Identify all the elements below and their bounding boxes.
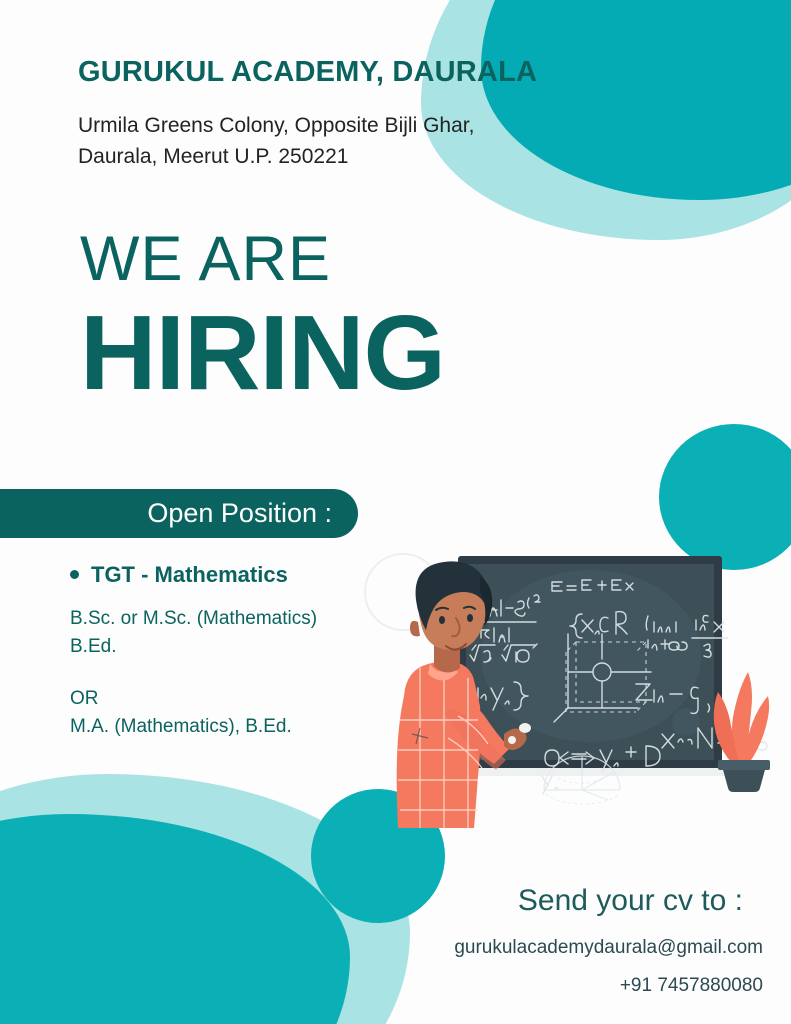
contact-email[interactable]: gurukulacademydaurala@gmail.com xyxy=(454,937,763,959)
position-title: TGT - Mathematics xyxy=(91,562,288,588)
position-row: TGT - Mathematics xyxy=(70,562,400,588)
open-position-label: Open Position : xyxy=(147,498,332,529)
qualification-primary: B.Sc. or M.Sc. (Mathematics) B.Ed. xyxy=(70,605,400,661)
open-position-banner: Open Position : xyxy=(0,489,358,538)
contact-phone[interactable]: +91 7457880080 xyxy=(620,975,763,997)
position-details: TGT - Mathematics B.Sc. or M.Sc. (Mathem… xyxy=(70,562,400,741)
organization-address: Urmila Greens Colony, Opposite Bijli Gha… xyxy=(78,110,474,172)
headline-hiring: HIRING xyxy=(80,300,445,406)
poster-content: GURUKUL ACADEMY, DAURALA Urmila Greens C… xyxy=(0,0,791,1024)
contact-label: Send your cv to : xyxy=(518,884,743,918)
bullet-icon xyxy=(70,570,79,579)
hiring-poster: GURUKUL ACADEMY, DAURALA Urmila Greens C… xyxy=(0,0,791,1024)
headline-we-are: WE ARE xyxy=(80,228,331,291)
qualification-alternate: OR M.A. (Mathematics), B.Ed. xyxy=(70,685,400,741)
organization-name: GURUKUL ACADEMY, DAURALA xyxy=(78,56,537,89)
